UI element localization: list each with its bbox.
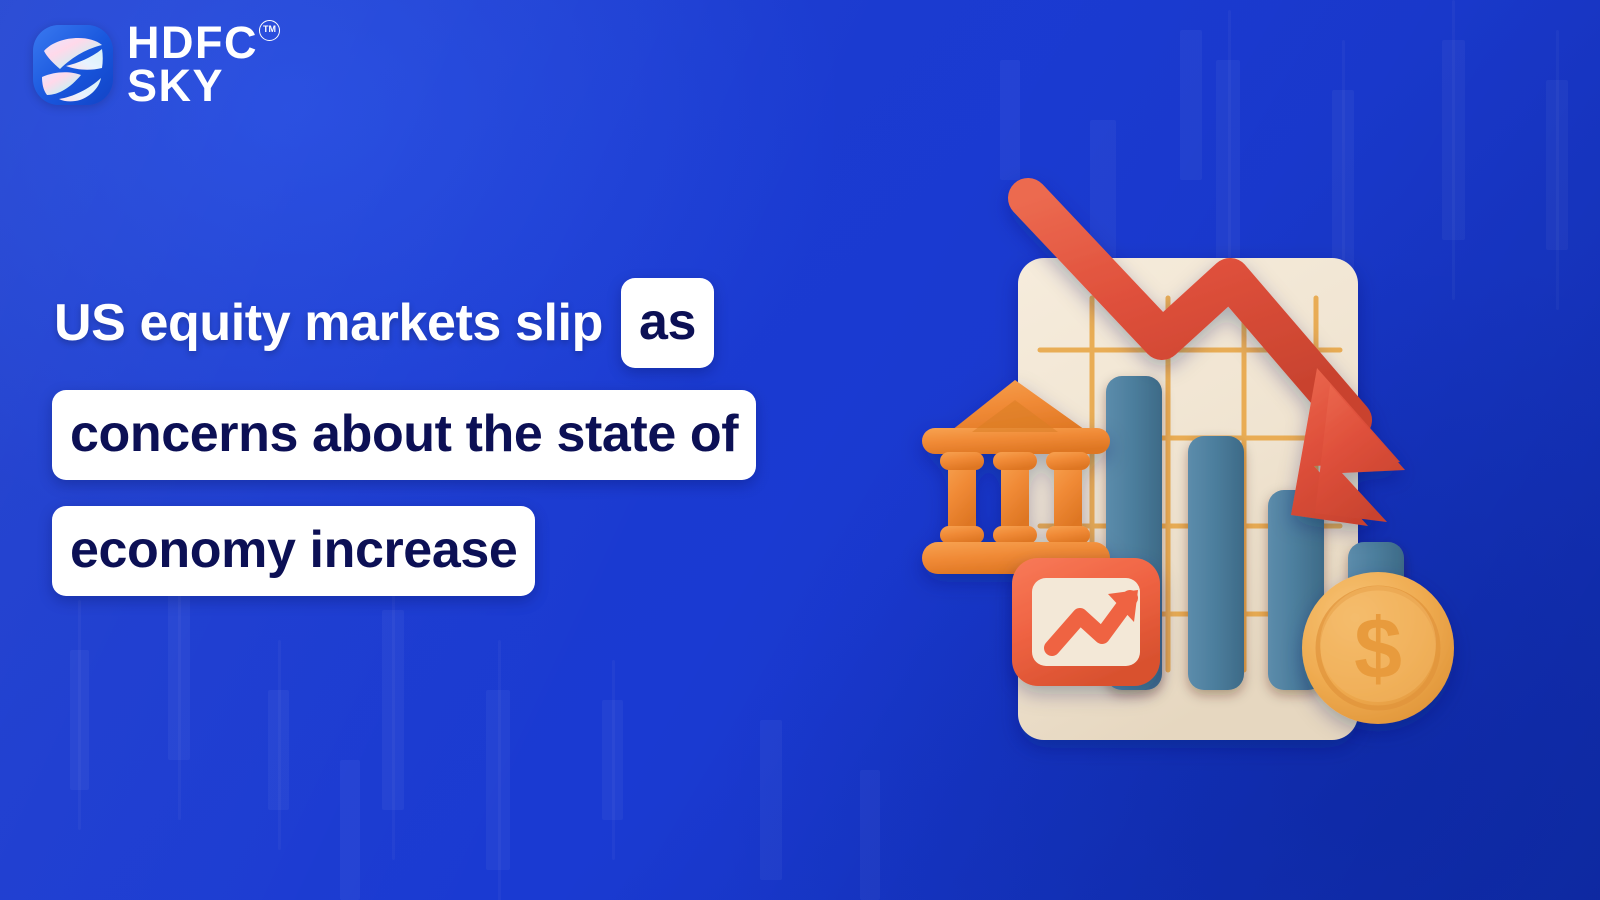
headline-line-1: US equity markets slip as — [52, 278, 932, 368]
coin-dollar-symbol: $ — [1354, 601, 1402, 697]
brand-name-line1: HDFC — [127, 22, 258, 65]
trademark-icon: TM — [259, 20, 280, 41]
promo-banner: HDFC SKY TM US equity markets slip as co… — [0, 0, 1600, 900]
headline-line2-highlight: concerns about the state of — [52, 390, 756, 480]
headline-line-2: concerns about the state of — [52, 390, 932, 480]
headline-line1-highlight: as — [621, 278, 714, 368]
headline-line3-highlight: economy increase — [52, 506, 535, 596]
trend-chart-tile-icon — [1012, 558, 1160, 686]
brand-logo[interactable]: HDFC SKY TM — [33, 22, 280, 108]
headline-line-3: economy increase — [52, 506, 932, 596]
dollar-coin-icon: $ — [1302, 572, 1454, 724]
brand-name-line2: SKY — [127, 65, 258, 108]
bar-2 — [1188, 436, 1244, 690]
hdfc-sky-swirl-logo-icon — [33, 25, 113, 105]
brand-wordmark: HDFC SKY TM — [127, 22, 280, 108]
headline-line1-text: US equity markets slip — [52, 293, 605, 353]
market-decline-illustration: $ — [900, 170, 1540, 770]
headline-block: US equity markets slip as concerns about… — [52, 278, 932, 596]
